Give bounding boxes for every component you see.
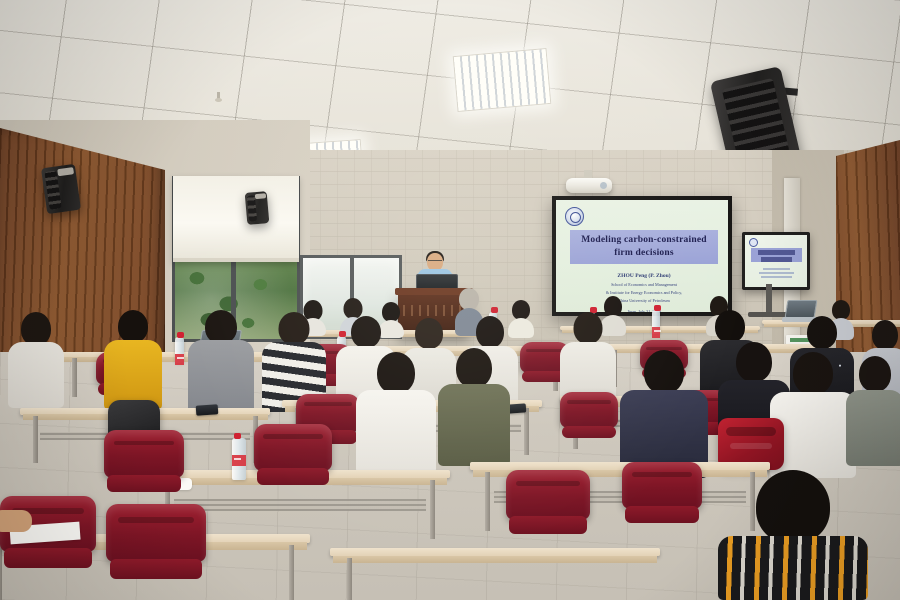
slide-title-line2: firm decisions [614, 247, 674, 260]
attendee-man-white-shirt [356, 352, 436, 474]
attendee-torso [356, 390, 436, 474]
chair[interactable] [622, 462, 702, 538]
attendee-head [21, 312, 51, 346]
attendee-head [715, 310, 745, 343]
attendee-woman-longhair [8, 312, 64, 408]
presentation-slide: Modeling carbon-constrained firm decisio… [556, 200, 728, 312]
attendee-torso [188, 340, 254, 414]
attendee-head [859, 356, 891, 392]
ceiling-projector [566, 178, 612, 193]
monitor-stand [766, 284, 772, 314]
chair[interactable] [104, 430, 184, 508]
attendee-head [459, 288, 479, 310]
water-bottle [652, 310, 660, 334]
attendee-torso [438, 384, 510, 466]
attendee-head [476, 316, 504, 348]
water-bottle [175, 337, 184, 363]
attendee-head [279, 312, 310, 345]
attendee-head [456, 348, 492, 388]
attendee-head [205, 310, 237, 344]
monitor-title-band [751, 248, 802, 262]
attendee-hand [0, 510, 32, 532]
ceiling-light-panel [453, 48, 552, 112]
roller-blind[interactable] [173, 176, 299, 262]
slide-affiliation-line2: & Institute for Energy Economics and Pol… [606, 290, 682, 296]
wall-speaker-center [245, 191, 270, 225]
attendee [846, 356, 900, 466]
water-bottle [232, 438, 246, 480]
attendee-man-navy-tee [620, 350, 708, 478]
attendee-head [793, 352, 833, 395]
attendee-head [415, 318, 443, 349]
monitor-body-lines [755, 266, 798, 280]
wall-speaker-left [41, 164, 81, 214]
attendee-head [756, 470, 830, 544]
lecture-hall-photo: Modeling carbon-constrained firm decisio… [0, 0, 900, 600]
attendee-head [644, 350, 684, 394]
slide-affiliation-line1: School of Economics and Management [611, 282, 677, 288]
chair[interactable] [106, 504, 206, 598]
smartphone[interactable] [196, 404, 219, 416]
attendee-head [574, 312, 603, 344]
attendee-hand-foreground [0, 506, 32, 532]
attendee-head [351, 316, 381, 348]
attendee-woman-yellow-dress [104, 310, 162, 410]
monitor-logo-icon [749, 238, 758, 247]
slide-body: ZHOU Peng (P. Zhou) School of Economics … [570, 270, 718, 306]
glasses-icon [428, 260, 442, 264]
attendee-torso [846, 390, 900, 466]
slide-title-band: Modeling carbon-constrained firm decisio… [570, 230, 718, 264]
secondary-display [742, 232, 810, 290]
attendee-woman-patterned-top [718, 470, 868, 600]
attendee-head [736, 342, 772, 382]
attendee-head [377, 352, 415, 394]
chair[interactable] [506, 470, 590, 550]
attendee-torso [8, 342, 64, 408]
attendee-man-olive-shirt [438, 348, 510, 466]
attendee-head [872, 320, 898, 350]
attendee-head [807, 316, 837, 349]
chair[interactable] [254, 424, 332, 500]
smartphone[interactable] [508, 403, 527, 413]
slide-presenter-name: ZHOU Peng (P. Zhou) [617, 273, 670, 279]
sprinkler-head [215, 92, 222, 103]
attendee-torso [718, 536, 868, 600]
desk-row-foreground [330, 548, 660, 600]
projection-screen: Modeling carbon-constrained firm decisio… [552, 196, 732, 316]
slide-title-line1: Modeling carbon-constrained [581, 234, 706, 247]
attendee-man-grey-polo [188, 310, 254, 414]
attendee-head [118, 310, 148, 343]
chair[interactable] [560, 392, 618, 450]
university-crest-logo [565, 207, 584, 226]
